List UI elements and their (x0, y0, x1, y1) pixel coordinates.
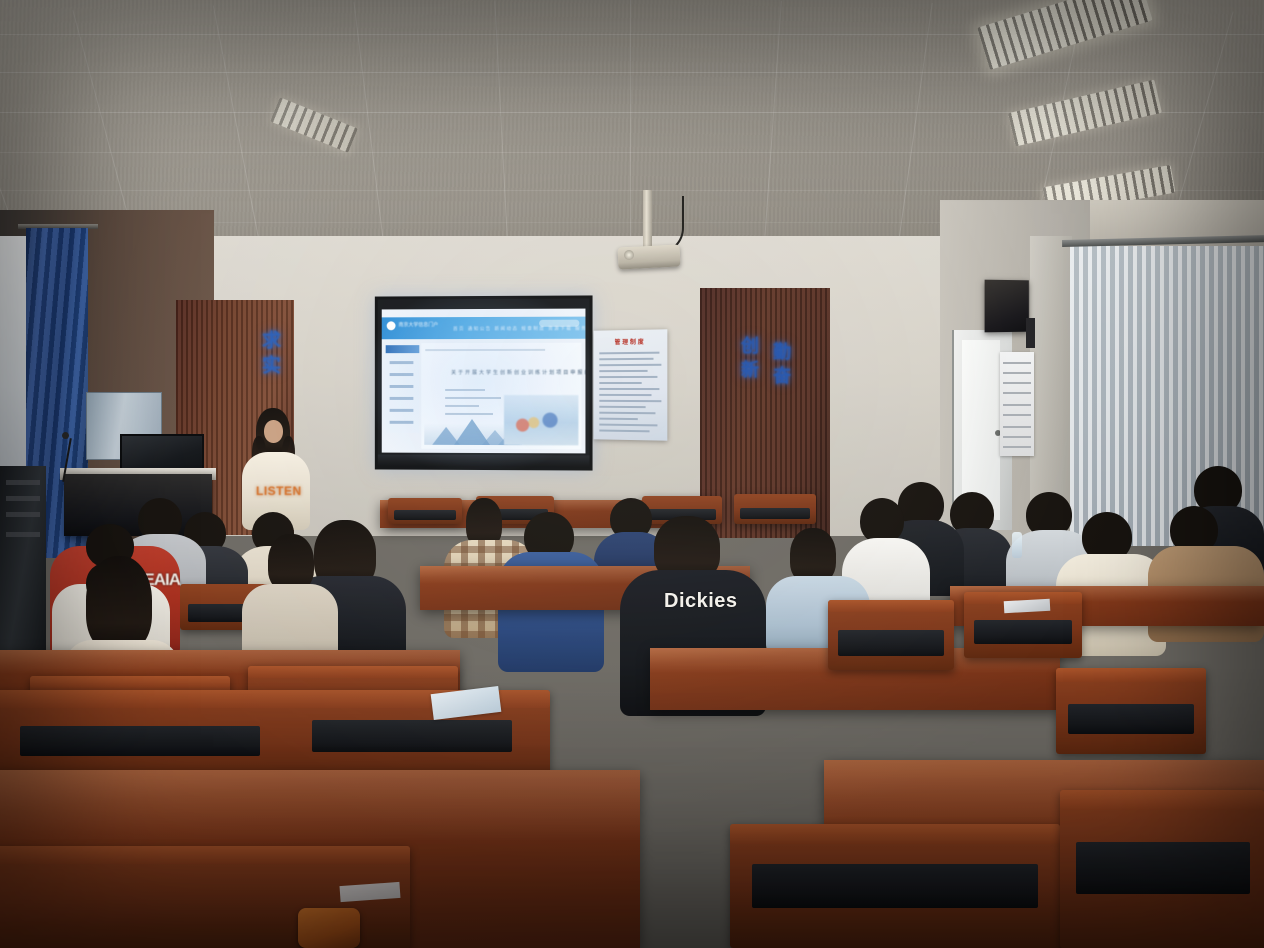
screen-bottom-bar (378, 455, 590, 468)
wall-slogan-right-b: 勤奋 (768, 342, 794, 390)
notebook-on-desk (1004, 599, 1051, 613)
bench-front-right-a (828, 600, 954, 670)
slide-content-area: 关于开展大学生创新创业训练计划项目申报的通知 (421, 343, 581, 450)
poster-title: 管理制度 (594, 336, 668, 346)
slide-sidebar (386, 345, 420, 433)
wall-poster: 管理制度 (594, 329, 668, 440)
microphone-icon (62, 432, 69, 439)
wall-slogan-left: 求实 (256, 330, 283, 380)
slide-logo-text: 南京大学信息门户 (399, 321, 439, 328)
bench-front-right-c (1056, 668, 1206, 754)
bench-foreground-right (730, 824, 1060, 948)
projector-mount-pole (643, 190, 652, 248)
presenter-graphic-text: LISTEN (256, 484, 302, 498)
classroom-photo: 求实 创新 勤奋 南京大学信息门户 首页 通知公告 新闻动态 规章制度 资源下载… (0, 0, 1264, 948)
site-logo-icon (387, 321, 396, 330)
water-bottle (1012, 532, 1022, 558)
dickies-logo-text: Dickies (664, 590, 738, 613)
wall-bulletin-board (1000, 352, 1034, 456)
slide-photo (504, 395, 578, 445)
wall-slogan-right-a: 创新 (736, 336, 762, 384)
wall-speaker (985, 280, 1029, 333)
projected-slide: 南京大学信息门户 首页 通知公告 新闻动态 规章制度 资源下载 服务指南 关于开… (382, 309, 586, 454)
bench-foreground-right-b (1060, 790, 1264, 948)
orange-bag (298, 908, 360, 948)
projector-lens-icon (624, 250, 634, 260)
av-equipment-rack (0, 466, 46, 676)
student-ponytail-center (242, 534, 338, 666)
speaker-bracket (1026, 318, 1035, 348)
slide-search-box (539, 320, 579, 327)
projection-screen: 南京大学信息门户 首页 通知公告 新闻动态 规章制度 资源下载 服务指南 关于开… (375, 295, 593, 470)
slide-title-text: 关于开展大学生创新创业训练计划项目申报的通知 (451, 369, 585, 376)
